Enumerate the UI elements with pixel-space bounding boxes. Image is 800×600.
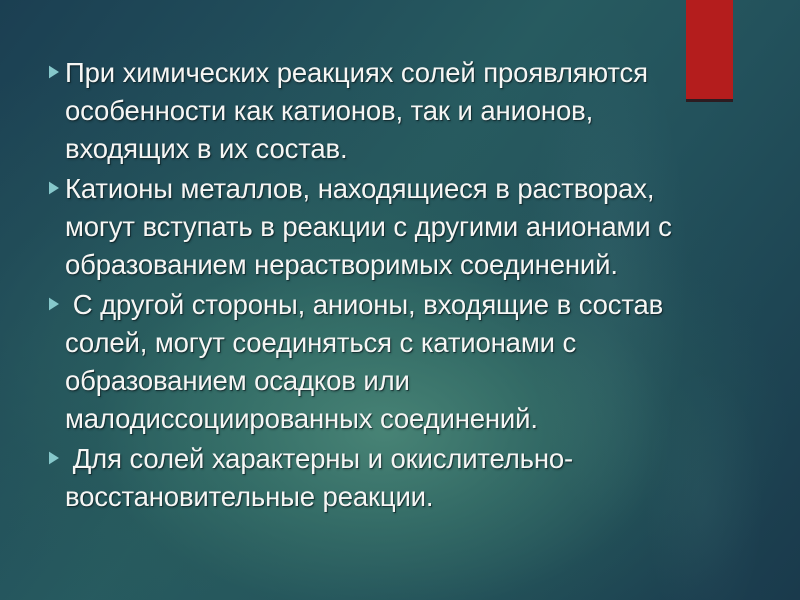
bullet-text-highlight: особенности как катионов, так и анионов, <box>65 95 593 126</box>
triangle-right-icon <box>48 54 65 79</box>
bullet-item: Для солей характерны и окислительно-восс… <box>48 440 673 516</box>
triangle-right-icon <box>48 170 65 195</box>
bullet-text: С другой стороны, анионы, входящие в сос… <box>65 286 673 438</box>
bullet-item: При химических реакциях солей проявляютс… <box>48 54 673 168</box>
red-accent-bar <box>686 0 733 99</box>
bullet-text-segment: Катионы металлов, находящиеся в раствора… <box>65 173 679 280</box>
triangle-right-icon <box>48 440 65 465</box>
presentation-slide: При химических реакциях солей проявляютс… <box>0 0 800 600</box>
bullet-text: Для солей характерны и окислительно-восс… <box>65 440 673 516</box>
bullet-text-segment: При химических реакциях солей проявляютс… <box>65 57 656 88</box>
bullet-item: С другой стороны, анионы, входящие в сос… <box>48 286 673 438</box>
bullet-text-segment: С другой стороны, анионы, входящие в сос… <box>65 289 671 434</box>
bullet-text-segment: Для солей характерны и окислительно-восс… <box>65 443 573 512</box>
red-accent-bar-shadow <box>686 99 733 102</box>
bullet-item: Катионы металлов, находящиеся в раствора… <box>48 170 673 284</box>
bullet-text: При химических реакциях солей проявляютс… <box>65 54 673 168</box>
slide-body-bullet-list: При химических реакциях солей проявляютс… <box>48 54 673 518</box>
triangle-right-icon <box>48 286 65 311</box>
bullet-text: Катионы металлов, находящиеся в раствора… <box>65 170 673 284</box>
